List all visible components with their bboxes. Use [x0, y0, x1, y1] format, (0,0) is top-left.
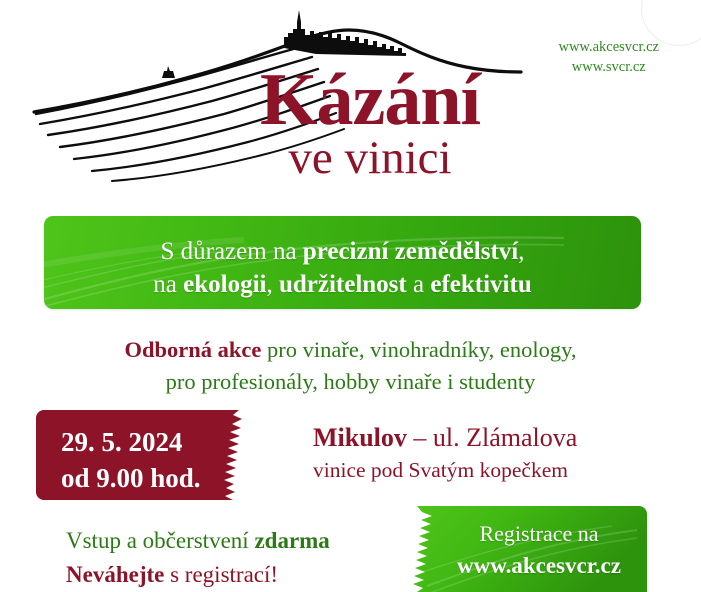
emphasis-l1-pre: S důrazem na: [160, 238, 302, 265]
emphasis-banner-text: S důrazem na precizní zemědělství, na ek…: [44, 216, 641, 302]
header-url-primary[interactable]: www.akcesvcr.cz: [558, 38, 659, 58]
registration-badge[interactable]: Registrace na www.akcesvcr.cz: [397, 506, 647, 592]
emphasis-banner: S důrazem na precizní zemědělství, na ek…: [44, 216, 641, 309]
audience-paragraph: Odborná akce pro vinaře, vinohradníky, e…: [0, 334, 701, 398]
emphasis-l1-post: ,: [518, 238, 524, 265]
free-entry-l1-bold: zdarma: [254, 528, 329, 553]
audience-line-1: Odborná akce pro vinaře, vinohradníky, e…: [0, 334, 701, 366]
free-entry-line-2: Neváhejte s registrací!: [66, 558, 330, 592]
emphasis-l2-pre: na: [153, 271, 183, 298]
title-main: Kázání: [205, 66, 535, 134]
emphasis-l2-bold-3: efektivitu: [430, 271, 531, 298]
venue-city: Mikulov: [313, 423, 407, 452]
poster-root: Kázání ve vinici www.akcesvcr.cz www.svc…: [0, 0, 701, 592]
free-entry-l2-bold: Neváhejte: [66, 562, 164, 587]
free-entry-block: Vstup a občerstvení zdarma Neváhejte s r…: [66, 524, 330, 592]
header-urls: www.akcesvcr.cz www.svcr.cz: [558, 38, 659, 77]
emphasis-l1-bold: precizní zemědělství: [303, 238, 518, 265]
title-sub: ve vinici: [205, 134, 535, 183]
registration-label: Registrace na: [439, 519, 639, 550]
emphasis-l2-mid-2: a: [407, 271, 431, 298]
date-line-2: od 9.00 hod.: [61, 461, 201, 497]
audience-line-1-rest: pro vinaře, vinohradníky, enology,: [261, 337, 576, 362]
emphasis-line-1: S důrazem na precizní zemědělství,: [44, 235, 641, 268]
free-entry-l1-pre: Vstup a občerstvení: [66, 528, 254, 553]
audience-accent: Odborná akce: [124, 337, 261, 362]
free-entry-line-1: Vstup a občerstvení zdarma: [66, 524, 330, 558]
date-line-1: 29. 5. 2024: [61, 425, 201, 461]
registration-badge-text: Registrace na www.akcesvcr.cz: [439, 519, 639, 582]
registration-url[interactable]: www.akcesvcr.cz: [439, 550, 639, 582]
venue-street: – ul. Zlámalova: [407, 423, 577, 452]
date-badge-text: 29. 5. 2024 od 9.00 hod.: [61, 425, 201, 496]
date-badge: 29. 5. 2024 od 9.00 hod.: [36, 410, 279, 500]
emphasis-l2-mid-1: ,: [266, 271, 279, 298]
free-entry-l2-rest: s registrací!: [164, 562, 278, 587]
venue-line-1: Mikulov – ul. Zlámalova: [313, 423, 577, 454]
emphasis-line-2: na ekologii, udržitelnost a efektivitu: [44, 268, 641, 301]
audience-line-2: pro profesionály, hobby vinaře i student…: [0, 366, 701, 398]
venue-line-2: vinice pod Svatým kopečkem: [313, 457, 577, 485]
emphasis-l2-bold-1: ekologii: [183, 271, 266, 298]
poster-title: Kázání ve vinici: [205, 66, 535, 183]
header-url-secondary[interactable]: www.svcr.cz: [558, 58, 659, 78]
venue-block: Mikulov – ul. Zlámalova vinice pod Svatý…: [313, 423, 577, 485]
emphasis-l2-bold-2: udržitelnost: [279, 271, 407, 298]
